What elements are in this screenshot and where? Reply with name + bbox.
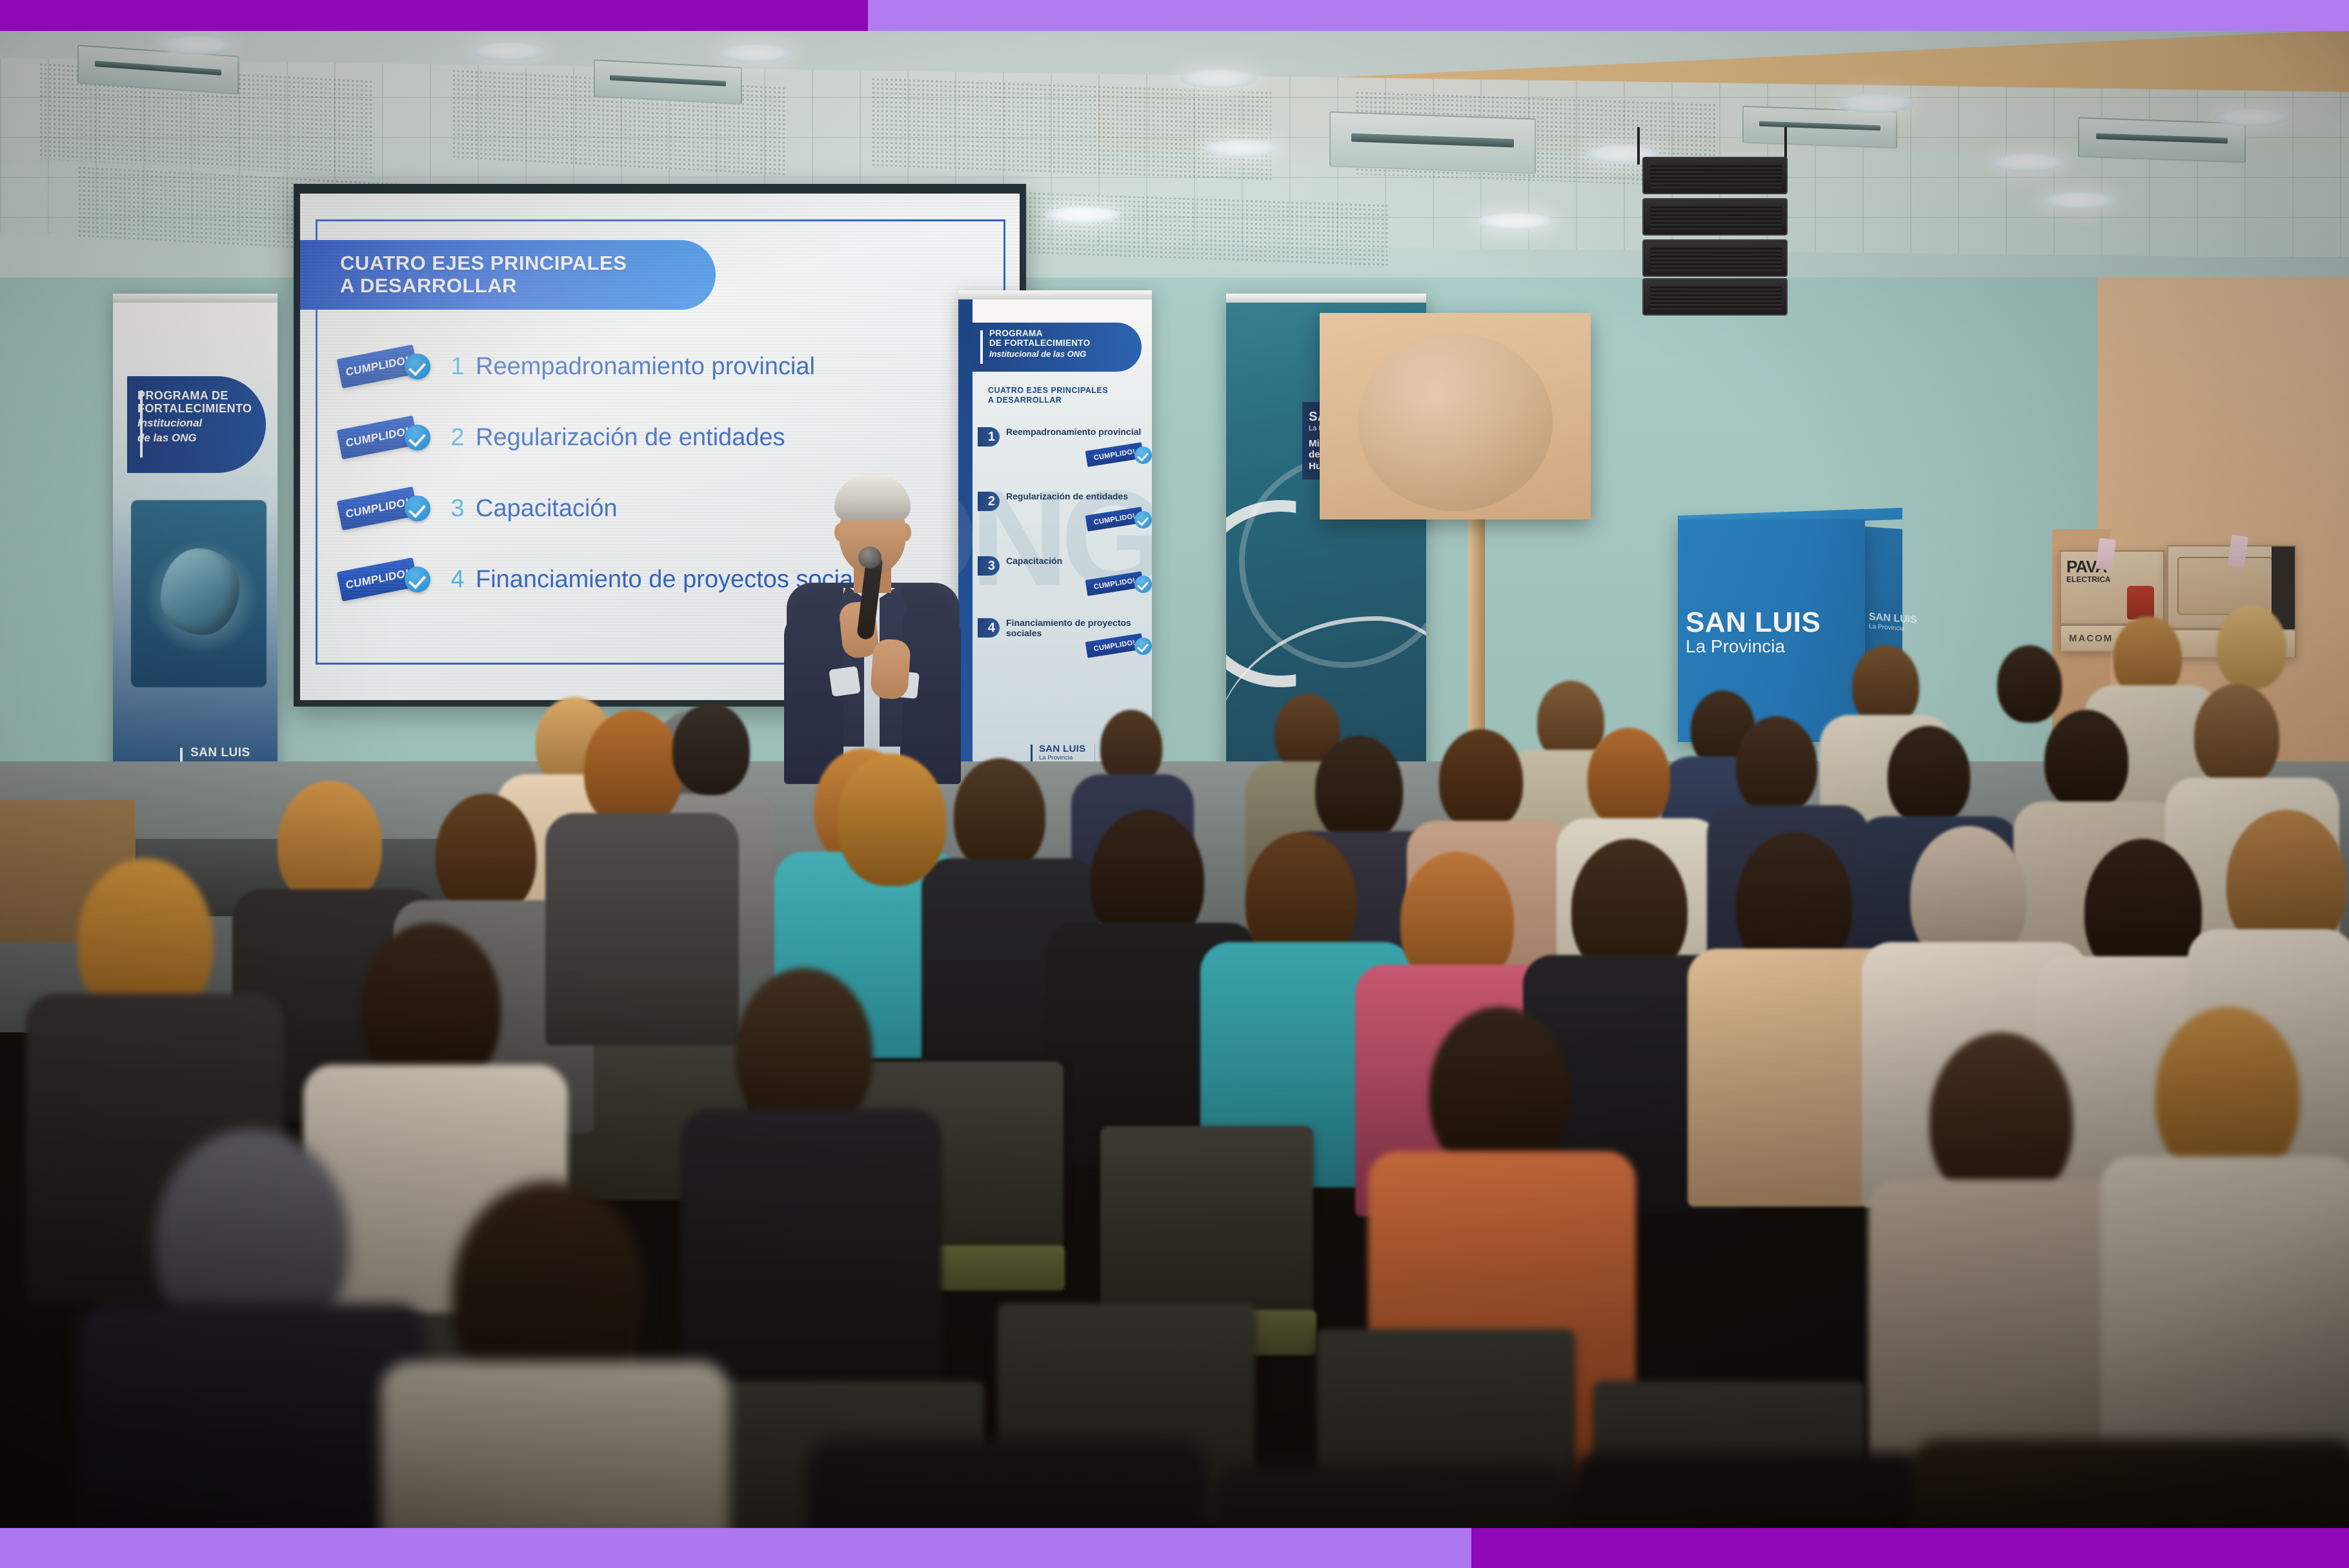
chair [1100,1126,1313,1320]
audience-head [1888,726,1970,825]
frame-band-top-right [868,0,2349,31]
audience [0,0,2349,1568]
audience-body [545,813,739,1045]
audience-head [1439,729,1523,831]
frame-band-bottom-right [1471,1528,2349,1568]
audience-head [838,754,946,886]
audience-head [1997,645,2062,723]
auditorium-scene: CUATRO EJES PRINCIPALES A DESARROLLAR CU… [0,0,2349,1568]
audience-head [277,781,382,907]
audience-head [436,794,536,916]
audience-head [2044,710,2128,810]
frame-band-bottom-left [0,1528,1471,1568]
frame-band-top-left [0,0,868,31]
audience-head [2217,605,2286,689]
audience-head [672,703,750,795]
audience-head [1100,710,1162,785]
audience-head [1736,716,1817,814]
audience-head [1588,728,1670,829]
audience-head [584,710,682,829]
audience-head [2194,684,2279,787]
audience-head [954,758,1045,872]
event-photo: CUATRO EJES PRINCIPALES A DESARROLLAR CU… [0,0,2349,1568]
audience-head [1315,736,1403,843]
